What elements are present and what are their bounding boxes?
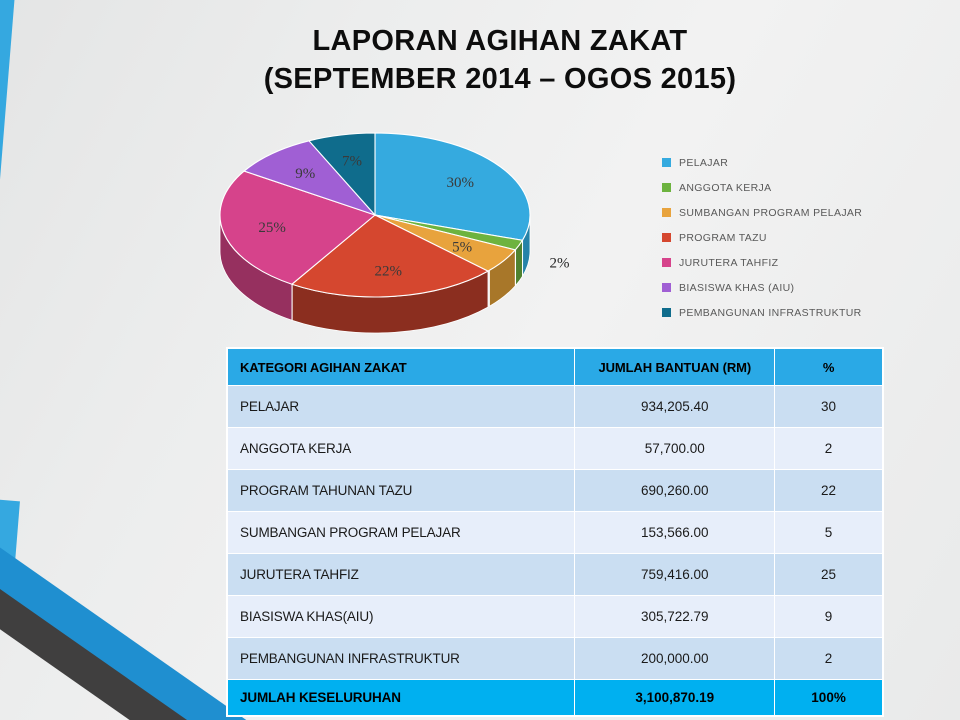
pie-slice-label: 30% xyxy=(447,175,475,191)
table-row: SUMBANGAN PROGRAM PELAJAR153,566.005 xyxy=(228,512,883,554)
legend-item: PEMBANGUNAN INFRASTRUKTUR xyxy=(662,300,912,325)
title-line-1: LAPORAN AGIHAN ZAKAT xyxy=(150,22,850,60)
legend-item: ANGGOTA KERJA xyxy=(662,175,912,200)
page-title: LAPORAN AGIHAN ZAKAT (SEPTEMBER 2014 – O… xyxy=(150,22,850,99)
cell-jumlah: 57,700.00 xyxy=(575,428,775,470)
cell-jumlah: 690,260.00 xyxy=(575,470,775,512)
legend-label: JURUTERA TAHFIZ xyxy=(679,257,778,269)
legend-label: PEMBANGUNAN INFRASTRUKTUR xyxy=(679,307,862,319)
legend-label: BIASISWA KHAS (AIU) xyxy=(679,282,794,294)
pie-chart-svg: 30%2%5%22%25%9%7% xyxy=(195,118,595,343)
total-cell-peratus: 100% xyxy=(775,680,883,716)
legend-label: PELAJAR xyxy=(679,157,728,169)
legend-label: ANGGOTA KERJA xyxy=(679,182,771,194)
cell-kategori: PELAJAR xyxy=(228,386,575,428)
cell-kategori: SUMBANGAN PROGRAM PELAJAR xyxy=(228,512,575,554)
legend-swatch-icon xyxy=(662,183,671,192)
column-header-peratus: % xyxy=(775,349,883,386)
cell-jumlah: 200,000.00 xyxy=(575,638,775,680)
table-row: PELAJAR934,205.4030 xyxy=(228,386,883,428)
legend-swatch-icon xyxy=(662,158,671,167)
legend-swatch-icon xyxy=(662,233,671,242)
table-row: JURUTERA TAHFIZ759,416.0025 xyxy=(228,554,883,596)
zakat-distribution-table: KATEGORI AGIHAN ZAKAT JUMLAH BANTUAN (RM… xyxy=(227,348,883,716)
legend-swatch-icon xyxy=(662,258,671,267)
cell-jumlah: 934,205.40 xyxy=(575,386,775,428)
legend-item: SUMBANGAN PROGRAM PELAJAR xyxy=(662,200,912,225)
pie-chart: 30%2%5%22%25%9%7% xyxy=(195,118,595,343)
table-header: KATEGORI AGIHAN ZAKAT JUMLAH BANTUAN (RM… xyxy=(228,349,883,386)
cell-peratus: 25 xyxy=(775,554,883,596)
table-row: ANGGOTA KERJA57,700.002 xyxy=(228,428,883,470)
column-header-jumlah: JUMLAH BANTUAN (RM) xyxy=(575,349,775,386)
table-total-row: JUMLAH KESELURUHAN3,100,870.19100% xyxy=(228,680,883,716)
legend-label: SUMBANGAN PROGRAM PELAJAR xyxy=(679,207,862,219)
cell-kategori: PEMBANGUNAN INFRASTRUKTUR xyxy=(228,638,575,680)
legend-item: PELAJAR xyxy=(662,150,912,175)
legend-swatch-icon xyxy=(662,308,671,317)
pie-slice-label: 9% xyxy=(295,166,315,182)
cell-peratus: 9 xyxy=(775,596,883,638)
pie-slice-label: 25% xyxy=(258,220,286,236)
cell-peratus: 5 xyxy=(775,512,883,554)
column-header-kategori: KATEGORI AGIHAN ZAKAT xyxy=(228,349,575,386)
slide-canvas: LAPORAN AGIHAN ZAKAT (SEPTEMBER 2014 – O… xyxy=(0,0,960,720)
legend-swatch-icon xyxy=(662,208,671,217)
pie-slice-label: 7% xyxy=(342,154,362,170)
total-cell-kategori: JUMLAH KESELURUHAN xyxy=(228,680,575,716)
cell-jumlah: 305,722.79 xyxy=(575,596,775,638)
legend-item: JURUTERA TAHFIZ xyxy=(662,250,912,275)
pie-slice-label: 22% xyxy=(374,263,402,279)
cell-peratus: 2 xyxy=(775,428,883,470)
cell-peratus: 22 xyxy=(775,470,883,512)
legend-item: PROGRAM TAZU xyxy=(662,225,912,250)
cell-kategori: BIASISWA KHAS(AIU) xyxy=(228,596,575,638)
cell-jumlah: 153,566.00 xyxy=(575,512,775,554)
pie-slice-label: 2% xyxy=(549,256,569,272)
cell-peratus: 30 xyxy=(775,386,883,428)
table-body: PELAJAR934,205.4030ANGGOTA KERJA57,700.0… xyxy=(228,386,883,716)
legend-swatch-icon xyxy=(662,283,671,292)
cell-kategori: JURUTERA TAHFIZ xyxy=(228,554,575,596)
cell-kategori: PROGRAM TAHUNAN TAZU xyxy=(228,470,575,512)
table-row: PROGRAM TAHUNAN TAZU690,260.0022 xyxy=(228,470,883,512)
table-row: PEMBANGUNAN INFRASTRUKTUR200,000.002 xyxy=(228,638,883,680)
title-line-2: (SEPTEMBER 2014 – OGOS 2015) xyxy=(150,60,850,98)
legend-label: PROGRAM TAZU xyxy=(679,232,767,244)
cell-jumlah: 759,416.00 xyxy=(575,554,775,596)
total-cell-jumlah: 3,100,870.19 xyxy=(575,680,775,716)
pie-slice-label: 5% xyxy=(452,239,472,255)
table-header-row: KATEGORI AGIHAN ZAKAT JUMLAH BANTUAN (RM… xyxy=(228,349,883,386)
cell-peratus: 2 xyxy=(775,638,883,680)
legend-item: BIASISWA KHAS (AIU) xyxy=(662,275,912,300)
table-row: BIASISWA KHAS(AIU)305,722.799 xyxy=(228,596,883,638)
cell-kategori: ANGGOTA KERJA xyxy=(228,428,575,470)
chart-legend: PELAJARANGGOTA KERJASUMBANGAN PROGRAM PE… xyxy=(662,150,912,325)
